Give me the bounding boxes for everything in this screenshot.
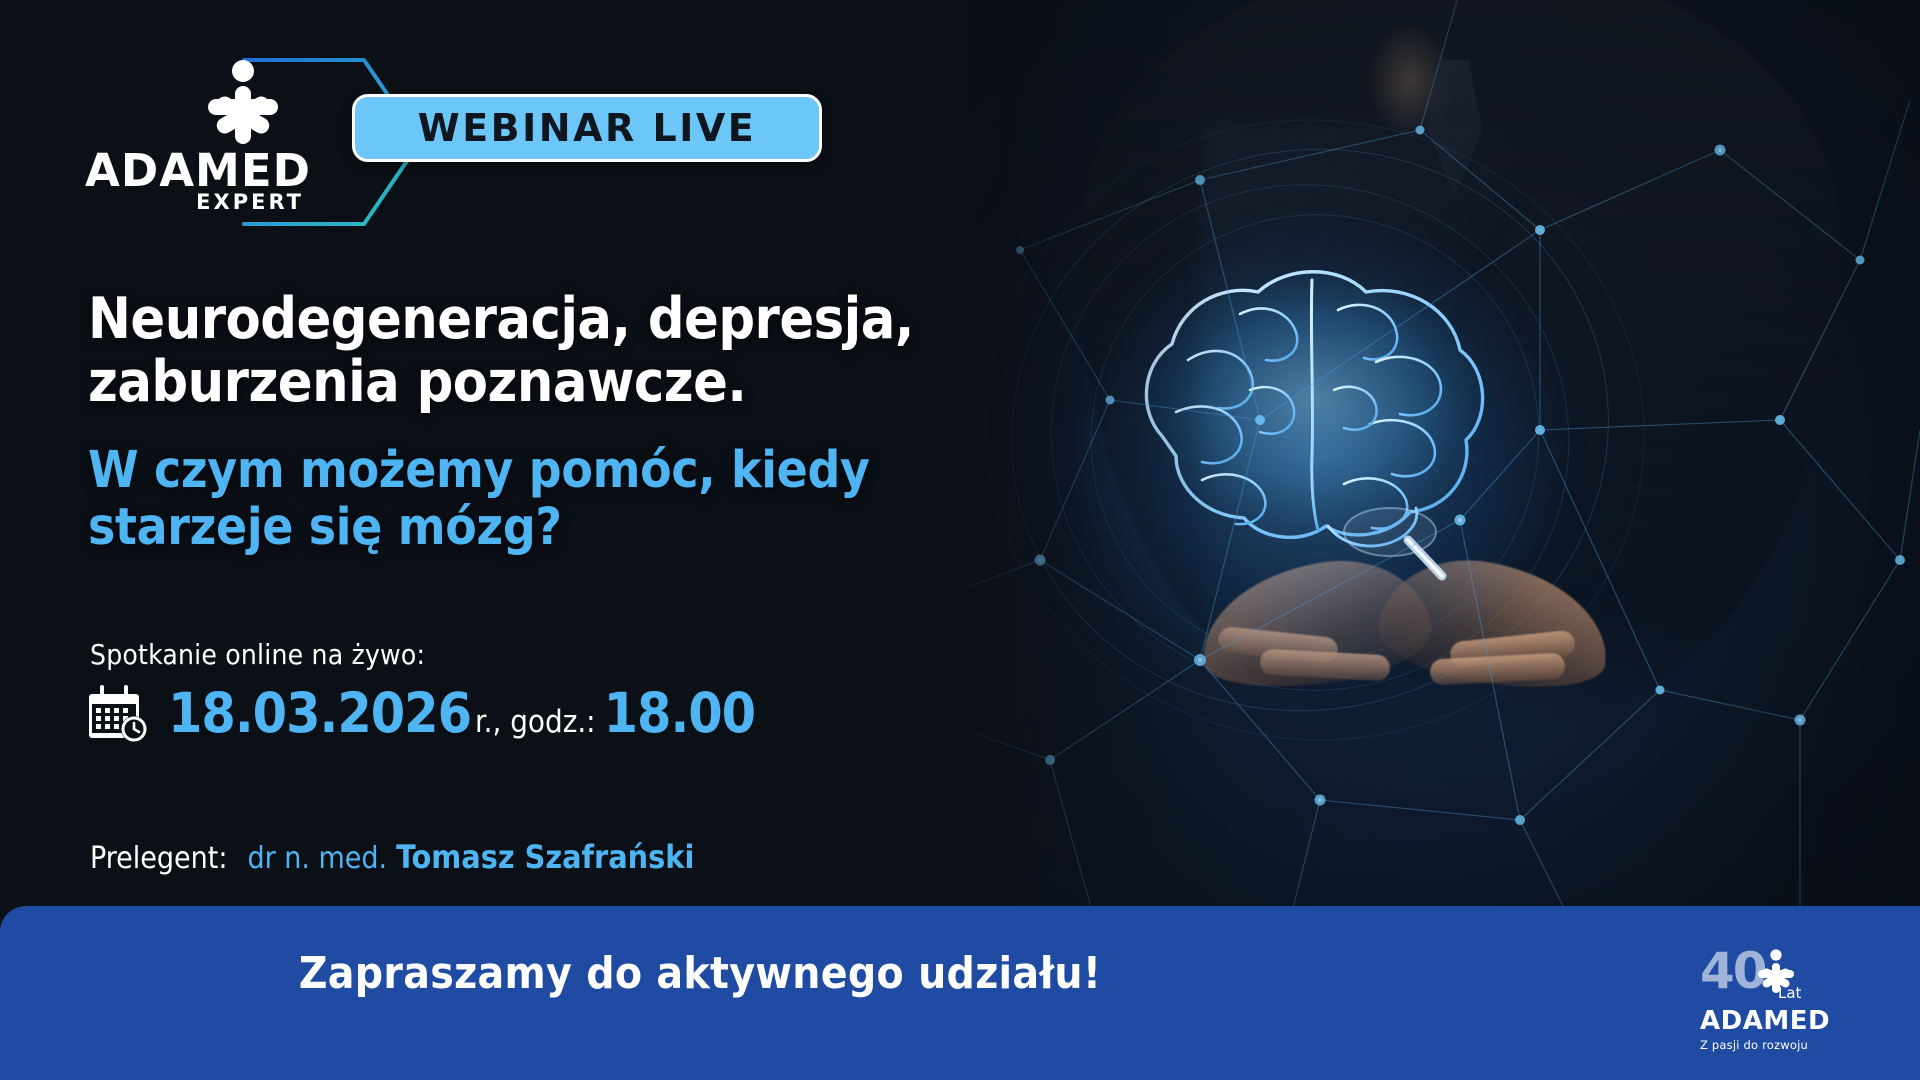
- headline-line-1: Neurodegeneracja, depresja,: [88, 286, 914, 352]
- date-time-row: 18.03.2026 r., godz.: 18.00: [88, 680, 755, 746]
- anniversary-logo: 40 Lat ADAMED Z pasji do rozwoju: [1700, 946, 1870, 1064]
- subhead-line-1: W czym możemy pomóc, kiedy: [88, 441, 870, 500]
- page-title: Neurodegeneracja, depresja, zaburzenia p…: [88, 288, 1038, 413]
- anniversary-top: 40 Lat: [1700, 946, 1870, 1008]
- calendar-clock-icon: [88, 682, 150, 744]
- date-time-text: 18.03.2026 r., godz.: 18.00: [168, 681, 755, 745]
- webinar-live-badge[interactable]: WEBINAR LIVE: [352, 94, 822, 162]
- page-subtitle: W czym możemy pomóc, kiedy starzeje się …: [88, 442, 1038, 556]
- event-date: 18.03.2026: [168, 681, 471, 745]
- logo-wordmark: ADAMED: [78, 148, 318, 193]
- webinar-live-label: WEBINAR LIVE: [418, 106, 756, 150]
- date-suffix: r., godz.:: [471, 704, 604, 740]
- anniversary-tagline: Z pasji do rozwoju: [1700, 1040, 1808, 1052]
- banner-root: ADAMED EXPERT WEBINAR LIVE Neurodegenera…: [0, 0, 1920, 1080]
- bottom-cta-bar: Zapraszamy do aktywnego udziału!: [0, 906, 1920, 1080]
- cta-text: Zapraszamy do aktywnego udziału!: [0, 948, 1400, 999]
- headline-line-2: zaburzenia poznawcze.: [88, 351, 1038, 414]
- anniversary-wordmark: ADAMED: [1700, 1008, 1830, 1034]
- speaker-row: Prelegent: dr n. med. Tomasz Szafrański: [90, 838, 694, 876]
- meeting-label: Spotkanie online na żywo:: [90, 638, 425, 671]
- subhead-line-2: starzeje się mózg?: [88, 499, 1038, 556]
- adamed-asterisk-icon: [198, 58, 288, 150]
- event-time: 18.00: [604, 681, 756, 745]
- speaker-title: dr n. med.: [227, 841, 387, 876]
- logo-subwordmark: EXPERT: [78, 192, 318, 213]
- anniversary-lat: Lat: [1778, 986, 1801, 1001]
- speaker-label: Prelegent:: [90, 841, 227, 876]
- speaker-name: Tomasz Szafrański: [387, 838, 694, 876]
